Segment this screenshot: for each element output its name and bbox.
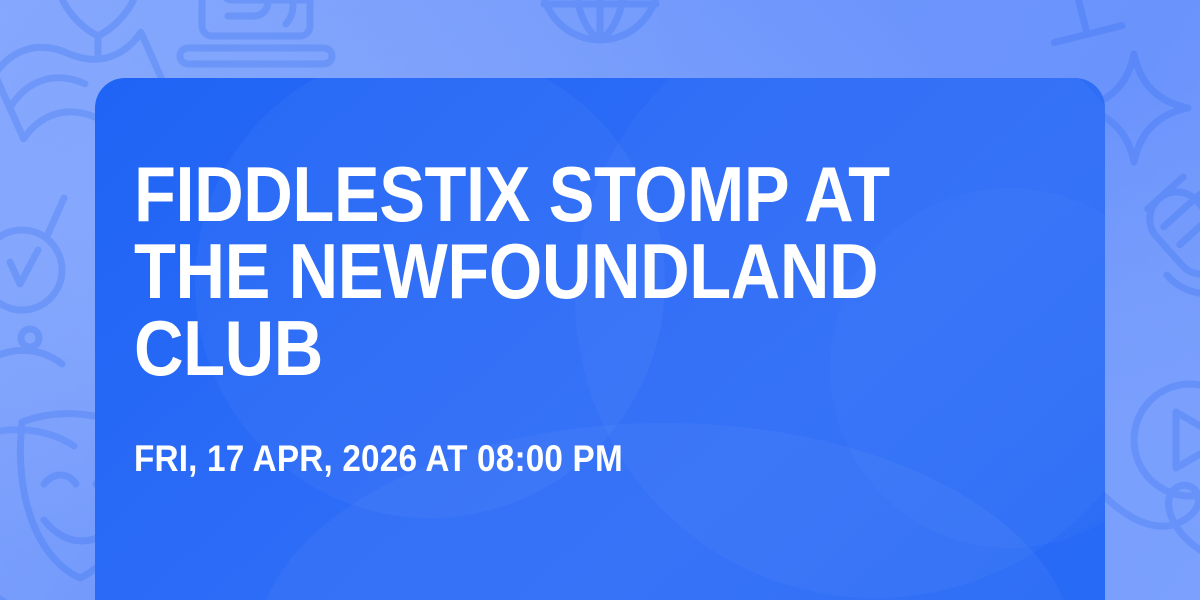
laptop-presentation-icon bbox=[180, 0, 332, 64]
microphone-icon bbox=[1125, 169, 1200, 339]
event-banner: Fiddlestix Stomp at the Newfoundland Clu… bbox=[0, 0, 1200, 600]
event-title: Fiddlestix Stomp at the Newfoundland Clu… bbox=[134, 156, 953, 388]
drinks-icon bbox=[991, 0, 1122, 53]
event-date: Fri, 17 Apr, 2026 at 08:00 PM bbox=[134, 440, 972, 477]
event-card-content: Fiddlestix Stomp at the Newfoundland Clu… bbox=[134, 156, 1065, 477]
medal-icon bbox=[0, 198, 64, 310]
event-card: Fiddlestix Stomp at the Newfoundland Clu… bbox=[95, 78, 1105, 600]
globe-icon bbox=[542, 0, 658, 40]
confetti-icon bbox=[0, 329, 62, 370]
play-button-icon bbox=[1134, 384, 1200, 496]
